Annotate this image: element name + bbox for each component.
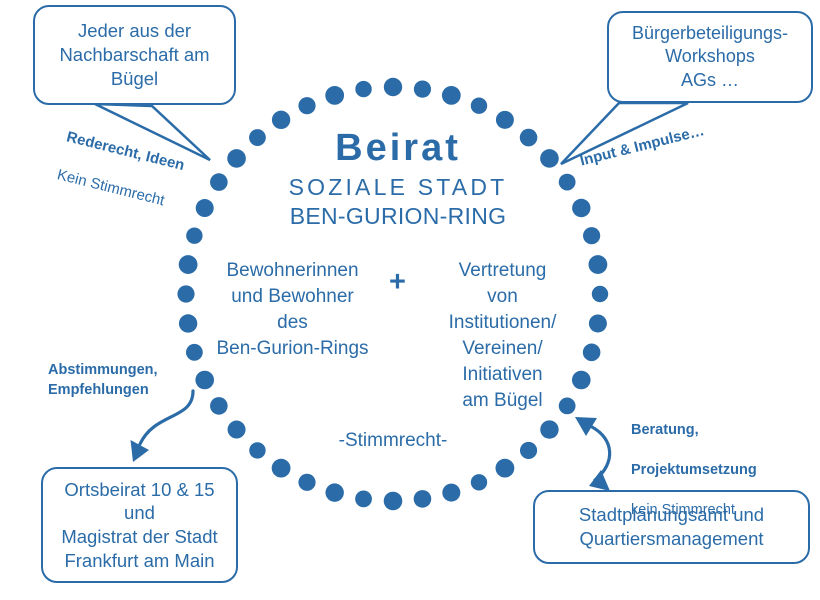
ring-dot bbox=[442, 86, 461, 105]
arrow-beratung-head-down bbox=[589, 470, 610, 491]
label-beratung-line2: Projektumsetzung bbox=[631, 460, 757, 480]
ring-title-block: Beirat SOZIALE STADT BEN-GURION-RING bbox=[233, 129, 563, 230]
label-beratung-line1: Beratung, bbox=[631, 420, 757, 440]
ring-dot bbox=[471, 474, 487, 490]
ring-dot bbox=[496, 459, 515, 478]
diagram-canvas: Jeder aus der Nachbarschaft am Bügel Bür… bbox=[0, 0, 820, 600]
ring-dot bbox=[583, 227, 600, 244]
ring-dot bbox=[210, 173, 228, 191]
ring-voting-right-note: -Stimmrecht- bbox=[293, 430, 493, 452]
label-abstimmungen-empfehlungen: Abstimmungen, Empfehlungen bbox=[48, 360, 158, 400]
box-ortsbeirat-magistrat[interactable]: Ortsbeirat 10 & 15 und Magistrat der Sta… bbox=[41, 467, 238, 583]
ring-dot bbox=[186, 344, 203, 361]
ring-column-residents: Bewohnerinnen und Bewohner des Ben-Gurio… bbox=[208, 258, 378, 362]
ring-column-institutions: Vertretung von Institutionen/ Vereinen/ … bbox=[418, 258, 588, 414]
ring-dot bbox=[414, 81, 431, 98]
ring-dot bbox=[414, 490, 432, 508]
ring-dot bbox=[496, 111, 514, 129]
ring-dot bbox=[384, 492, 403, 511]
ring-dot bbox=[298, 97, 315, 114]
ring-dot bbox=[355, 81, 371, 97]
ring-dot bbox=[272, 459, 291, 478]
label-beratung-projektumsetzung: Beratung, Projektumsetzung kein Stimmrec… bbox=[631, 400, 757, 540]
ring-dot bbox=[355, 490, 372, 507]
ring-dot bbox=[179, 314, 197, 332]
arrow-beratung-head-up bbox=[575, 417, 597, 436]
arrow-beratung bbox=[592, 427, 610, 480]
ring-dot bbox=[471, 98, 487, 114]
arrow-abstimmungen-head bbox=[131, 440, 150, 462]
plus-icon: + bbox=[378, 266, 418, 299]
ring-dot bbox=[272, 111, 290, 129]
label-input-impulse: Input & Impulse… bbox=[578, 121, 707, 171]
label-rederecht-line1: Rederecht, Ideen bbox=[64, 127, 186, 175]
ring-title-sub-soziale-stadt: SOZIALE STADT bbox=[233, 174, 563, 201]
ring-dot bbox=[540, 420, 558, 438]
ring-dot bbox=[520, 442, 537, 459]
ring-dot bbox=[592, 286, 608, 302]
ring-membership-columns: Bewohnerinnen und Bewohner des Ben-Gurio… bbox=[205, 258, 590, 414]
ring-dot bbox=[384, 78, 402, 96]
ring-dot bbox=[325, 86, 344, 105]
ring-dot bbox=[228, 421, 246, 439]
label-rederecht-line2: Kein Stimmrecht bbox=[55, 166, 177, 214]
ring-title-sub-ben-gurion-ring: BEN-GURION-RING bbox=[233, 203, 563, 230]
ring-dot bbox=[588, 255, 607, 274]
ring-dot bbox=[298, 474, 315, 491]
ring-dot bbox=[179, 255, 198, 274]
ring-dot bbox=[186, 227, 202, 243]
ring-dot bbox=[442, 484, 460, 502]
ring-dot bbox=[589, 314, 607, 332]
label-rederecht-ideen: Rederecht, Ideen Kein Stimmrecht bbox=[50, 108, 191, 233]
ring-title-main: Beirat bbox=[233, 129, 563, 169]
label-beratung-line3: kein Stimmrecht bbox=[631, 500, 757, 520]
ring-dot bbox=[249, 442, 265, 458]
ring-dot bbox=[177, 285, 194, 302]
ring-dot bbox=[572, 199, 590, 217]
ring-dot bbox=[196, 199, 214, 217]
ring-dot bbox=[325, 483, 343, 501]
bubble-neighbourhood[interactable]: Jeder aus der Nachbarschaft am Bügel bbox=[33, 5, 236, 105]
bubble-participation-workshops[interactable]: Bürgerbeteiligungs- Workshops AGs … bbox=[607, 11, 813, 103]
